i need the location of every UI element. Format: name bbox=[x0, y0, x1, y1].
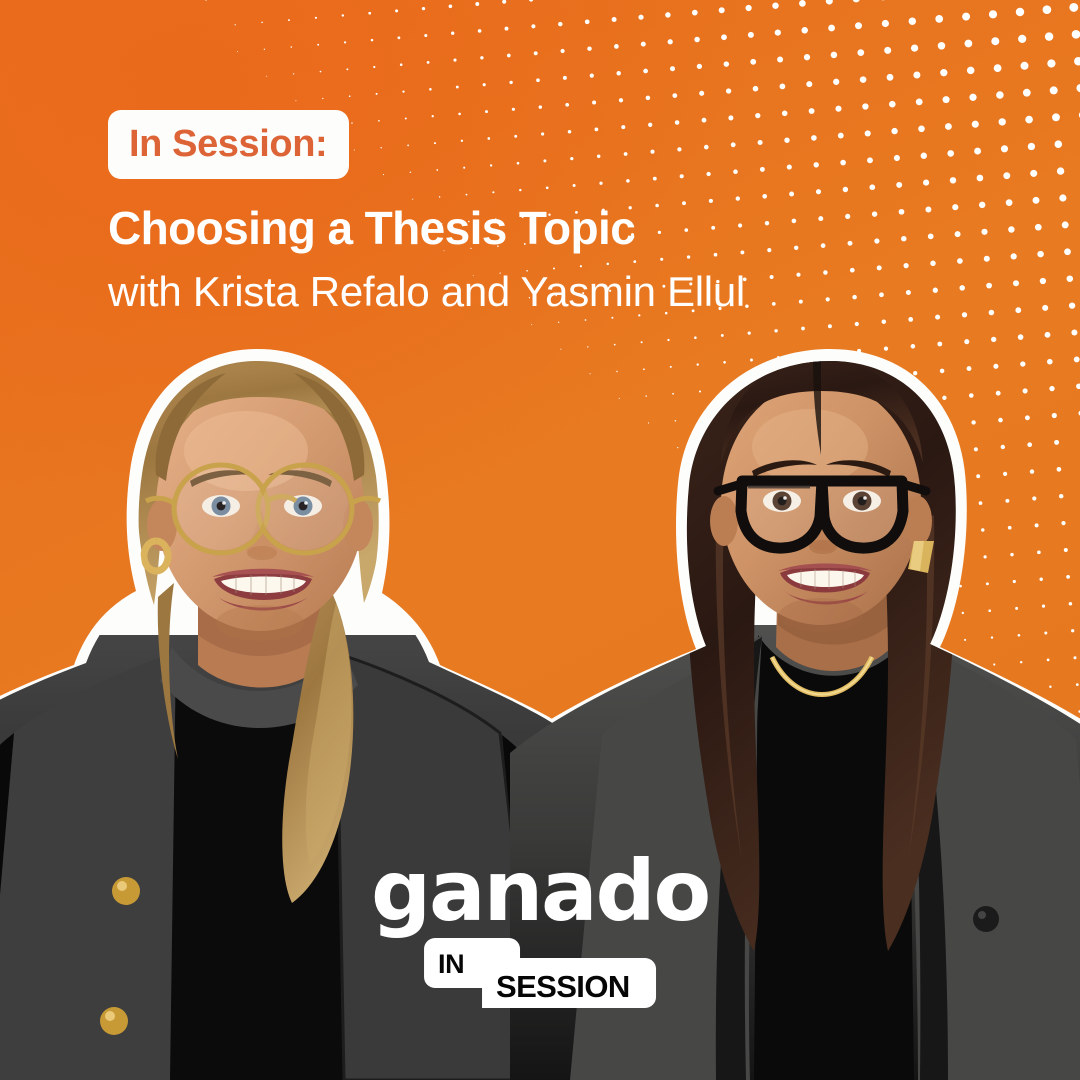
social-card-canvas: In Session: Choosing a Thesis Topic with… bbox=[0, 0, 1080, 1080]
headline-block: In Session: Choosing a Thesis Topic with… bbox=[108, 110, 745, 314]
in-session-logo-badge: IN SESSION bbox=[424, 938, 656, 1008]
ganado-wordmark: ganado bbox=[371, 853, 709, 930]
ganado-logo-lockup: ganado IN SESSION bbox=[371, 853, 709, 1008]
in-session-badge-label: In Session: bbox=[129, 125, 327, 163]
tag-label-session: SESSION bbox=[496, 971, 630, 1002]
tag-label-in: IN bbox=[438, 951, 464, 978]
episode-title: Choosing a Thesis Topic bbox=[108, 205, 745, 253]
in-session-badge: In Session: bbox=[108, 110, 349, 179]
episode-subtitle: with Krista Refalo and Yasmin Ellul bbox=[108, 270, 745, 314]
